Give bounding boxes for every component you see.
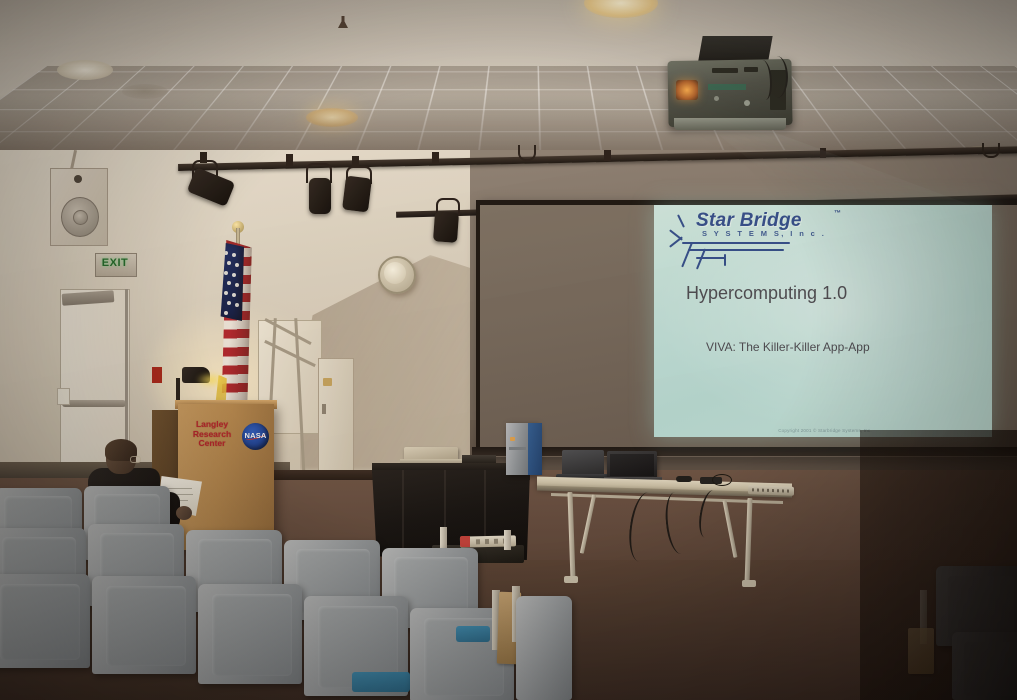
tower-drive-slot-icon <box>509 447 526 450</box>
seat-tablet-arm <box>908 628 934 674</box>
podium-label-line3: Center <box>186 439 238 449</box>
slide-title: Hypercomputing 1.0 <box>686 283 966 304</box>
cable-coil <box>712 474 732 486</box>
projector-label <box>708 84 746 90</box>
speaker-tweeter-icon <box>74 175 82 183</box>
exit-sign-label: EXIT <box>99 257 131 269</box>
nasa-logo-label: NASA <box>242 431 269 440</box>
podium-lamp-glow <box>196 372 226 388</box>
projector-button-icon[interactable] <box>744 100 750 106</box>
power-strip-switch[interactable] <box>460 536 470 547</box>
eyeglasses-icon <box>130 456 141 463</box>
slide-footer: Copyright 2001 © Starbridge Systems, Inc… <box>700 428 950 433</box>
projector-button-icon[interactable] <box>714 96 719 101</box>
projector-lens-icon <box>676 80 698 100</box>
star-bridge-logo: Star Bridge ™ S Y S T E M S, I n c . <box>666 208 856 270</box>
truss-clamp-icon <box>352 156 359 168</box>
keyboard[interactable] <box>748 485 794 496</box>
floor-post <box>504 530 511 550</box>
seat-back-panel <box>948 576 1014 640</box>
wall-outlet-icon <box>323 378 332 386</box>
seat-back-panel <box>212 594 292 676</box>
seat-cushion <box>352 672 410 692</box>
seat-back-panel <box>106 586 186 666</box>
seat-back-panel <box>964 642 1017 696</box>
slide-subtitle: VIVA: The Killer-Killer App-App <box>706 340 946 354</box>
computer-tower-panel <box>528 423 542 475</box>
projector-base <box>674 118 786 130</box>
wall-clock-face <box>384 262 406 284</box>
auditorium-photo: EXIT <box>0 0 1017 700</box>
fire-alarm-icon <box>152 367 162 383</box>
mouse[interactable] <box>676 476 692 482</box>
stage-light-icon <box>433 211 459 243</box>
ceiling-downlight <box>57 60 113 80</box>
truss-hook-icon <box>518 145 536 161</box>
laptop-screen <box>610 454 654 476</box>
door-push-bar[interactable] <box>62 400 126 407</box>
stage-light-icon <box>309 178 331 214</box>
speaker-cone-inner-icon <box>73 210 88 225</box>
seat-cushion <box>456 626 490 642</box>
seat-back-panel <box>0 584 80 660</box>
podium-langley-label: Langley Research Center <box>186 420 238 449</box>
person-hand <box>176 506 192 520</box>
side-door-handle-icon <box>322 404 326 414</box>
truss-clamp-icon <box>432 152 439 164</box>
stage-light-icon <box>342 176 372 213</box>
light-switch[interactable] <box>57 388 70 405</box>
floor-post <box>440 527 447 549</box>
tower-led-icon <box>510 437 515 441</box>
truss-clamp-icon <box>286 154 293 166</box>
projector-vent-icon <box>712 68 738 73</box>
folding-table-foot <box>564 576 578 583</box>
truss-clamp-icon <box>200 152 207 163</box>
side-door[interactable] <box>318 358 354 478</box>
folding-table-foot <box>742 580 756 587</box>
auditorium-seat[interactable] <box>516 596 572 700</box>
truss-hook-icon <box>982 143 1000 158</box>
truss-clamp-icon <box>604 150 611 161</box>
logo-subtitle: S Y S T E M S, I n c . <box>702 229 826 238</box>
projection-screen-bottom-bar <box>472 447 1017 456</box>
